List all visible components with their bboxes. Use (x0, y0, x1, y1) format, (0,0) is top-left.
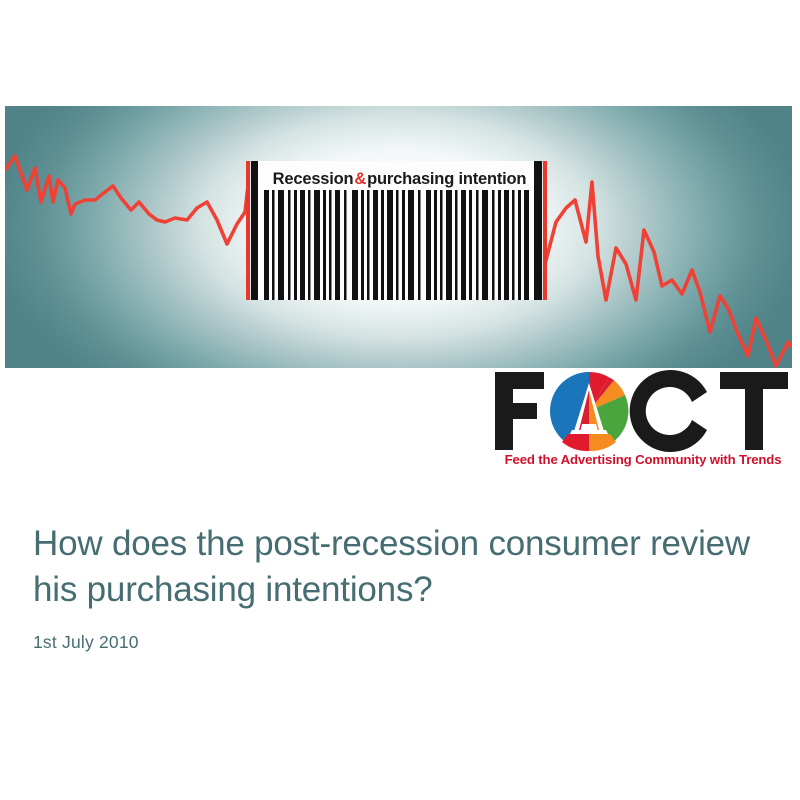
slide-date: 1st July 2010 (33, 631, 763, 653)
trend-line-right (545, 182, 792, 366)
barcode-caption-before: Recession (273, 170, 354, 189)
slide-canvas: Recession & purchasing intention (0, 0, 800, 800)
fact-logo: Feed the Advertising Community with Tren… (492, 370, 792, 478)
logo-letter-c (630, 370, 707, 452)
logo-letter-f (495, 372, 544, 450)
logo-letter-a (550, 372, 628, 451)
page-title: How does the post-recession consumer rev… (33, 521, 763, 613)
title-block: How does the post-recession consumer rev… (33, 521, 763, 653)
trend-line-left (5, 156, 248, 244)
fact-wordmark-icon (492, 370, 792, 452)
logo-letter-t (720, 372, 788, 450)
fact-logo-mark (492, 370, 792, 452)
barcode-caption: Recession & purchasing intention (258, 166, 541, 192)
fact-logo-tagline: Feed the Advertising Community with Tren… (497, 452, 789, 467)
barcode-caption-after: purchasing intention (367, 170, 526, 189)
barcode-caption-ampersand: & (353, 170, 367, 189)
